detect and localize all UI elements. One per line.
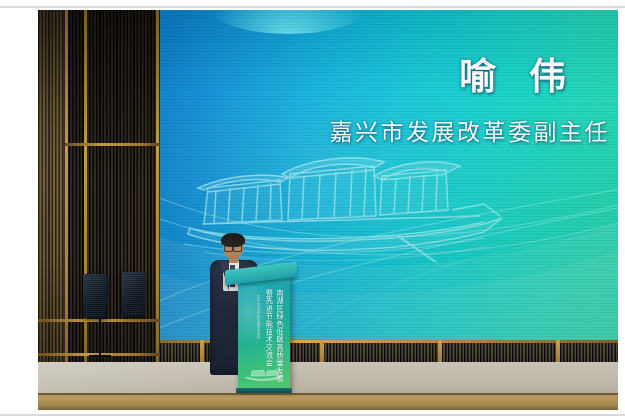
- stage-front-edge: [38, 393, 618, 410]
- gold-rail-vertical: [84, 10, 87, 410]
- stage-scene: 喻 伟 嘉兴市发展改革委副主任: [38, 10, 618, 410]
- speaker-grille: [124, 274, 143, 314]
- wall-speaker-box: [122, 272, 145, 316]
- photo-bottom-border: [0, 414, 625, 416]
- mic-stand-base: [89, 355, 111, 357]
- podium-banner-panel: 南湖区绿色低碳高质量发展 暨先进节能技术交流会 嘉兴市南湖区发展和改革局: [238, 277, 290, 390]
- gold-rail-vertical: [156, 10, 159, 410]
- podium-subtext: 嘉兴市南湖区发展和改革局: [256, 295, 260, 339]
- left-slat-wall: [38, 10, 160, 410]
- gold-rail-vertical: [65, 10, 68, 410]
- wall-speaker-box: [83, 274, 107, 318]
- mic-stand-pole: [99, 319, 101, 357]
- stage-floor: [38, 362, 618, 410]
- stage-edge-line: [38, 393, 618, 395]
- podium: 南湖区绿色低碳高质量发展 暨先进节能技术交流会 嘉兴市南湖区发展和改革局: [234, 266, 290, 390]
- podium-boat-icon: [244, 366, 284, 382]
- speaker-job-title: 嘉兴市发展改革委副主任: [330, 113, 611, 147]
- photo-top-border: [0, 6, 625, 8]
- speaker-grille: [85, 276, 105, 316]
- glasses-icon: [224, 244, 242, 250]
- conference-photo: 喻 伟 嘉兴市发展改革委副主任: [0, 0, 625, 420]
- gold-rail-horizontal: [65, 143, 160, 146]
- podium-base: [236, 388, 292, 393]
- speaker-name-title: 喻 伟: [459, 46, 576, 100]
